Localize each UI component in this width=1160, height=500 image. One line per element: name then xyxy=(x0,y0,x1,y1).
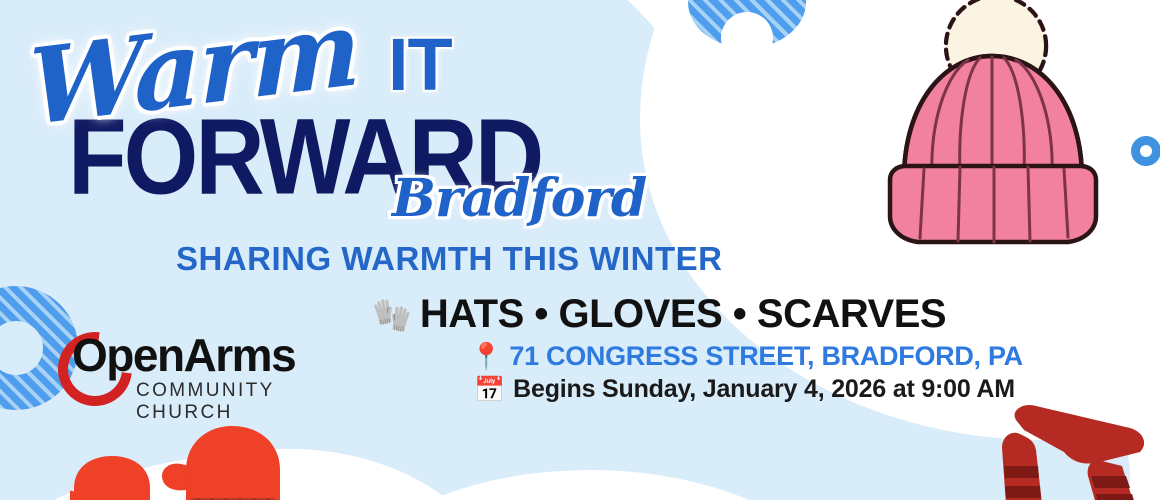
event-details: 🧤 HATS • GLOVES • SCARVES 📍 71 CONGRESS … xyxy=(372,292,1023,404)
headline-it-word: IT xyxy=(388,22,452,107)
openarms-logo: OpenArms COMMUNITY CHURCH xyxy=(58,330,281,392)
donation-items-row: 🧤 HATS • GLOVES • SCARVES xyxy=(372,292,1023,337)
donation-items-text: HATS • GLOVES • SCARVES xyxy=(420,292,946,337)
date-text: Begins Sunday, January 4, 2026 at 9:00 A… xyxy=(513,375,1015,404)
headline-city-script: Bradford xyxy=(392,168,646,229)
red-mittens-illustration xyxy=(70,418,320,500)
ring-hole xyxy=(0,321,43,375)
solid-ring-right-icon xyxy=(1131,136,1160,166)
logo-wordmark: OpenArms xyxy=(72,328,295,382)
red-scarf-illustration xyxy=(980,404,1155,500)
address-row: 📍 71 CONGRESS STREET, BRADFORD, PA xyxy=(470,341,1023,372)
date-row: 📅 Begins Sunday, January 4, 2026 at 9:00… xyxy=(474,375,1023,404)
tagline: SHARING WARMTH THIS WINTER xyxy=(176,240,722,278)
address-text: 71 CONGRESS STREET, BRADFORD, PA xyxy=(509,341,1022,372)
headline-lockup: Warm IT FORWARD Bradford xyxy=(0,0,760,240)
pink-beanie-illustration xyxy=(868,0,1118,254)
location-pin-icon: 📍 xyxy=(470,344,502,370)
promo-banner: Warm IT FORWARD Bradford SHARING WARMTH … xyxy=(0,0,1160,500)
logo-subtitle: COMMUNITY CHURCH xyxy=(136,380,281,424)
ring-hole xyxy=(1140,145,1152,157)
calendar-icon: 📅 xyxy=(474,377,505,402)
gloves-icon: 🧤 xyxy=(372,299,412,331)
